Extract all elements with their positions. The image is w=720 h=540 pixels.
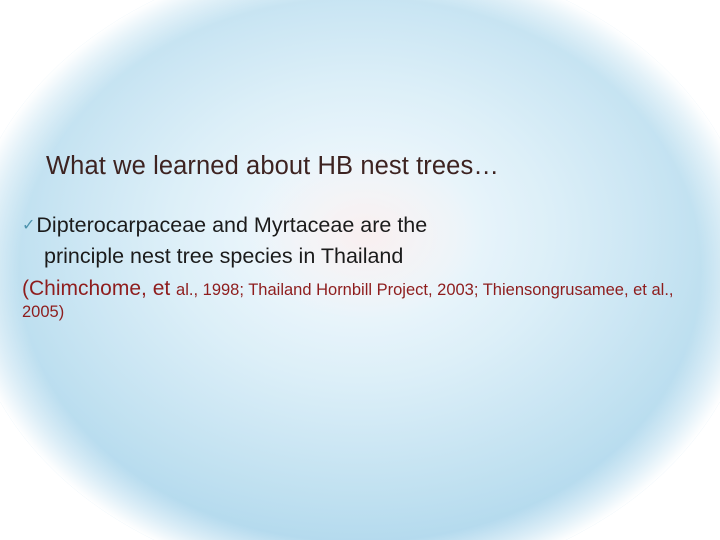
checkmark-icon: ✓: [22, 217, 35, 234]
slide-content: What we learned about HB nest trees… ✓Di…: [0, 0, 720, 540]
bullet-item: ✓Dipterocarpaceae and Myrtaceae are the …: [22, 210, 698, 271]
slide-canvas: What we learned about HB nest trees… ✓Di…: [0, 0, 720, 540]
citation-text: (Chimchome, et al., 1998; Thailand Hornb…: [22, 276, 698, 322]
slide-body: ✓Dipterocarpaceae and Myrtaceae are the …: [22, 210, 698, 322]
bullet-line-two: principle nest tree species in Thailand: [22, 241, 698, 272]
slide-title: What we learned about HB nest trees…: [46, 151, 499, 181]
citation-lead: (Chimchome, et: [22, 277, 176, 300]
bullet-line-one: Dipterocarpaceae and Myrtaceae are the: [36, 213, 427, 237]
